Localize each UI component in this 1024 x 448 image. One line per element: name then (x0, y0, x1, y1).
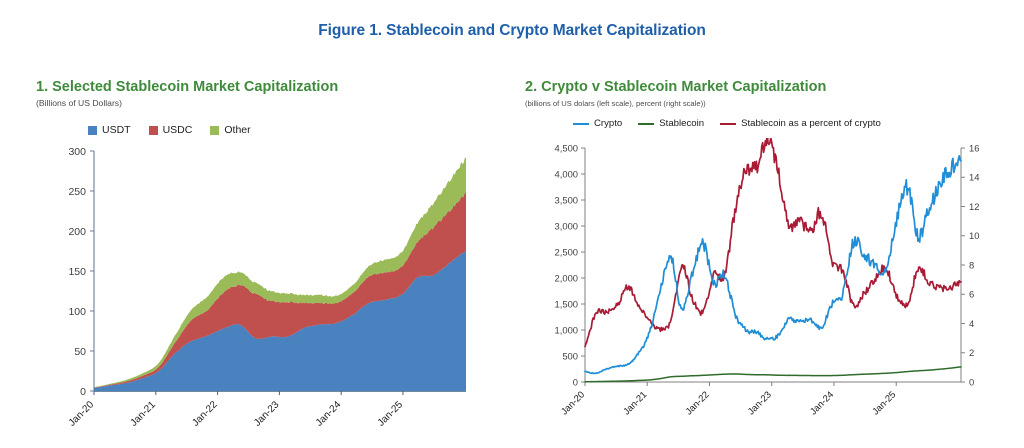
line-crypto (585, 156, 961, 374)
svg-text:Jan-20: Jan-20 (67, 399, 97, 429)
svg-text:3,500: 3,500 (555, 194, 578, 205)
svg-text:Jan-24: Jan-24 (807, 389, 835, 417)
legend-label-usdc: USDC (163, 124, 193, 136)
svg-text:150: 150 (68, 266, 86, 278)
svg-text:Jan-21: Jan-21 (129, 399, 159, 429)
legend-label-stablecoin-pct: Stablecoin as a percent of crypto (741, 118, 881, 129)
legend-item-stablecoin-pct-of-crypto[interactable]: Stablecoin as a percent of crypto (720, 118, 881, 129)
svg-text:4,000: 4,000 (555, 168, 578, 179)
panel-2-subtitle: (billions of US dolars (left scale), per… (525, 98, 995, 109)
legend-line-crypto (573, 123, 589, 125)
legend-item-other[interactable]: Other (210, 124, 250, 136)
svg-text:250: 250 (68, 186, 86, 198)
legend-item-usdt[interactable]: USDT (88, 124, 131, 136)
svg-text:Jan-25: Jan-25 (376, 399, 406, 429)
svg-text:6: 6 (969, 289, 974, 300)
legend-item-stablecoin[interactable]: Stablecoin (638, 118, 704, 129)
legend-panel-1: USDT USDC Other (88, 124, 251, 136)
svg-text:4: 4 (969, 318, 974, 329)
svg-text:300: 300 (68, 146, 86, 158)
svg-text:Jan-24: Jan-24 (314, 399, 344, 429)
figure-title: Figure 1. Stablecoin and Crypto Market C… (0, 22, 1024, 40)
legend-swatch-other (210, 126, 219, 135)
svg-text:Jan-21: Jan-21 (621, 389, 649, 417)
svg-text:0: 0 (80, 386, 86, 398)
svg-text:10: 10 (969, 230, 979, 241)
svg-text:14: 14 (969, 172, 979, 183)
stacked-area-chart-svg: 050100150200250300Jan-20Jan-21Jan-22Jan-… (52, 143, 472, 443)
legend-panel-2: Crypto Stablecoin Stablecoin as a percen… (573, 118, 881, 129)
svg-text:Jan-22: Jan-22 (190, 399, 220, 429)
svg-text:Jan-23: Jan-23 (745, 389, 773, 417)
line-stablecoin-as-a-percent-of-crypto (585, 138, 961, 346)
svg-text:Jan-22: Jan-22 (683, 389, 711, 417)
panel-1-title: 1. Selected Stablecoin Market Capitaliza… (36, 78, 456, 96)
svg-text:200: 200 (68, 226, 86, 238)
multi-line-chart-svg: 05001,0001,5002,0002,5003,0003,5004,0004… (533, 138, 1003, 448)
svg-text:Jan-23: Jan-23 (252, 399, 282, 429)
legend-line-stablecoin-pct (720, 123, 736, 125)
svg-text:Jan-20: Jan-20 (558, 389, 586, 417)
svg-text:2,500: 2,500 (555, 246, 578, 257)
panel-2-title: 2. Crypto v Stablecoin Market Capitaliza… (525, 78, 995, 96)
legend-line-stablecoin (638, 123, 654, 125)
svg-text:1,500: 1,500 (555, 298, 578, 309)
legend-swatch-usdc (149, 126, 158, 135)
line-stablecoin (585, 367, 961, 382)
panel-selected-stablecoin-market-cap: 1. Selected Stablecoin Market Capitaliza… (36, 78, 456, 109)
panel-crypto-v-stablecoin-market-cap: 2. Crypto v Stablecoin Market Capitaliza… (525, 78, 995, 109)
legend-label-stablecoin: Stablecoin (659, 118, 704, 129)
panel-1-subtitle: (Billions of US Dollars) (36, 98, 456, 109)
svg-text:2: 2 (969, 347, 974, 358)
legend-swatch-usdt (88, 126, 97, 135)
legend-item-usdc[interactable]: USDC (149, 124, 193, 136)
svg-text:500: 500 (562, 350, 578, 361)
svg-text:1,000: 1,000 (555, 324, 578, 335)
legend-item-crypto[interactable]: Crypto (573, 118, 622, 129)
legend-label-other: Other (224, 124, 250, 136)
chart-panel-2: 05001,0001,5002,0002,5003,0003,5004,0004… (533, 138, 1003, 448)
chart-panel-1: 050100150200250300Jan-20Jan-21Jan-22Jan-… (52, 143, 472, 443)
legend-label-crypto: Crypto (594, 118, 622, 129)
legend-label-usdt: USDT (102, 124, 131, 136)
svg-text:50: 50 (74, 346, 86, 358)
svg-text:4,500: 4,500 (555, 142, 578, 153)
svg-text:100: 100 (68, 306, 86, 318)
svg-text:3,000: 3,000 (555, 220, 578, 231)
svg-text:12: 12 (969, 201, 979, 212)
svg-text:8: 8 (969, 259, 974, 270)
svg-text:2,000: 2,000 (555, 272, 578, 283)
svg-text:16: 16 (969, 142, 979, 153)
svg-text:0: 0 (969, 376, 974, 387)
figure-root: Figure 1. Stablecoin and Crypto Market C… (0, 0, 1024, 439)
svg-text:0: 0 (573, 376, 578, 387)
svg-text:Jan-25: Jan-25 (870, 389, 898, 417)
